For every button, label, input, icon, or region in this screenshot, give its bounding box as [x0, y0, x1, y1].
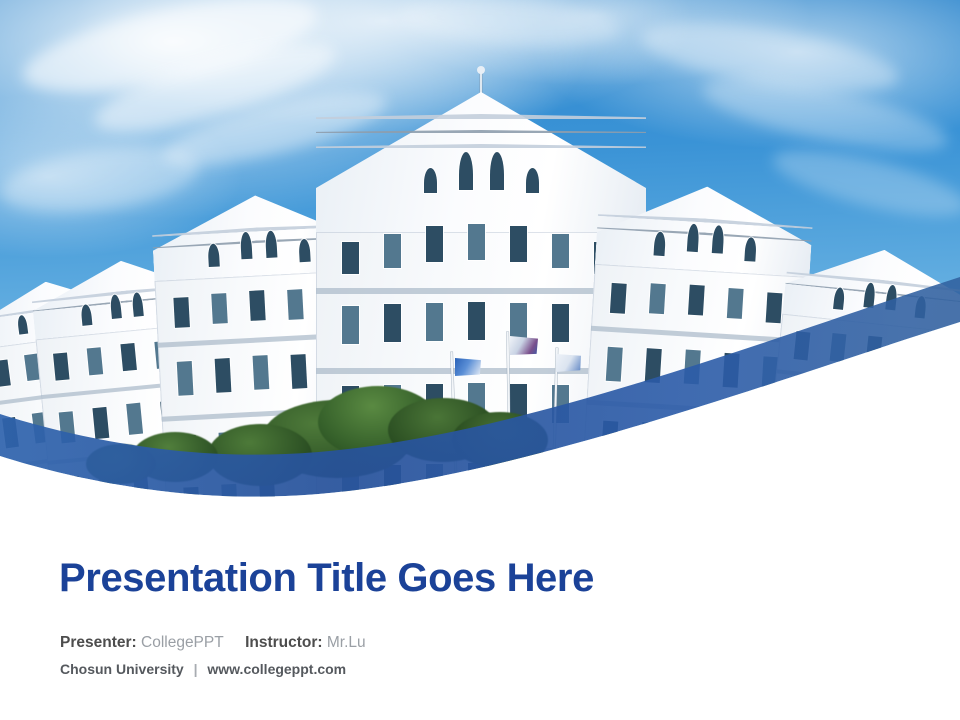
facade-window: [640, 422, 657, 457]
facade-window: [342, 306, 359, 344]
facade-window: [757, 430, 774, 465]
meta-separator: |: [188, 661, 204, 677]
facade-window: [598, 475, 615, 510]
facade-window: [384, 234, 401, 268]
attic-window: [526, 168, 539, 193]
facade-window: [177, 361, 194, 396]
facade-window: [894, 401, 911, 434]
roof-cornice: [316, 144, 646, 148]
roof-cornice: [316, 130, 646, 133]
facade-window: [426, 226, 443, 262]
facade-window: [780, 455, 797, 488]
facade-window: [865, 336, 882, 365]
facade-window: [426, 464, 443, 502]
facade-window: [426, 303, 443, 341]
facade-window: [173, 297, 190, 328]
title-area: Presentation Title Goes Here Presenter: …: [0, 520, 960, 720]
facade-window: [342, 242, 359, 274]
facade-string-course: [769, 435, 958, 459]
facade-window: [468, 302, 485, 340]
presenter-value: CollegePPT: [141, 634, 223, 651]
facade-window: [937, 346, 954, 375]
attic-window: [712, 225, 725, 254]
attic-window: [744, 237, 756, 262]
facade-window: [723, 353, 740, 388]
facade-window: [852, 460, 869, 493]
facade-window: [610, 283, 627, 314]
facade-window: [215, 358, 232, 393]
facade-window: [679, 423, 696, 458]
facade-window: [249, 290, 266, 321]
campus-photo: [0, 0, 960, 520]
facade-window: [930, 406, 947, 439]
facade-window: [510, 226, 527, 262]
facade-window: [53, 352, 70, 380]
facade-window: [816, 457, 833, 490]
flag: [556, 354, 581, 372]
facade-window: [183, 487, 200, 520]
attic-window: [653, 231, 665, 256]
facade-window: [253, 355, 270, 390]
attic-window: [459, 152, 473, 190]
facade-window: [59, 411, 76, 443]
facade-window: [601, 421, 618, 456]
facade-window: [787, 391, 804, 424]
facade-window: [287, 289, 304, 320]
facade-window: [859, 396, 876, 429]
facade-window: [888, 465, 905, 498]
facade-window: [211, 293, 228, 324]
facade-window: [727, 288, 744, 319]
spire-finial: [477, 66, 485, 74]
tree-canopy: [86, 444, 156, 484]
facade-window: [92, 407, 109, 439]
presentation-slide: Presentation Title Goes Here Presenter: …: [0, 0, 960, 720]
facade-window: [649, 283, 666, 314]
attic-window: [424, 168, 437, 193]
facade-window: [384, 304, 401, 342]
tree-canopy: [452, 412, 548, 468]
facade-window: [637, 476, 654, 511]
facade-window: [40, 474, 57, 505]
facade-window: [823, 394, 840, 427]
facade-window: [291, 354, 308, 389]
building-wing-right-outer: [761, 240, 960, 520]
facade-window: [259, 481, 276, 516]
organization-name: Chosun University: [60, 661, 184, 677]
instructor-label: Instructor:: [245, 634, 323, 651]
facade-window: [510, 464, 527, 502]
facade-window: [221, 484, 238, 519]
facade-window: [688, 285, 705, 316]
facade-window: [718, 427, 735, 462]
facade-window: [65, 476, 82, 508]
flag: [510, 336, 538, 355]
organization-line: Chosun University | www.collegeppt.com: [60, 661, 346, 677]
campus-photo-banner: [0, 0, 960, 520]
facade-window: [510, 303, 527, 341]
facade-window: [468, 463, 485, 501]
facade-window: [645, 348, 662, 383]
roof-cornice: [316, 114, 646, 119]
facade-window: [606, 347, 623, 382]
instructor-value: Mr.Lu: [327, 634, 366, 651]
facade-window: [901, 340, 918, 369]
facade-window: [552, 304, 569, 342]
attic-window: [490, 152, 504, 190]
facade-window: [830, 333, 847, 362]
facade-wall: [761, 314, 960, 520]
website-url[interactable]: www.collegeppt.com: [207, 661, 346, 677]
presenter-label: Presenter:: [60, 634, 137, 651]
facade-window: [594, 466, 611, 504]
facade-window: [384, 465, 401, 503]
flag: [455, 358, 481, 376]
facade-window: [766, 292, 783, 323]
facade-window: [794, 331, 811, 360]
tree-canopy: [208, 424, 312, 486]
facade-string-course: [776, 369, 960, 393]
attic-window: [687, 223, 700, 252]
facade-window: [552, 465, 569, 503]
facade-window: [126, 403, 143, 435]
facade-window: [120, 343, 137, 371]
facade-window: [676, 477, 693, 512]
facade-window: [552, 234, 569, 268]
presenter-line: Presenter: CollegePPT Instructor: Mr.Lu: [60, 634, 366, 652]
facade-window: [468, 224, 485, 260]
facade-window: [87, 347, 104, 375]
page-title: Presentation Title Goes Here: [59, 556, 594, 601]
facade-window: [10, 478, 27, 509]
facade-window: [684, 350, 701, 385]
